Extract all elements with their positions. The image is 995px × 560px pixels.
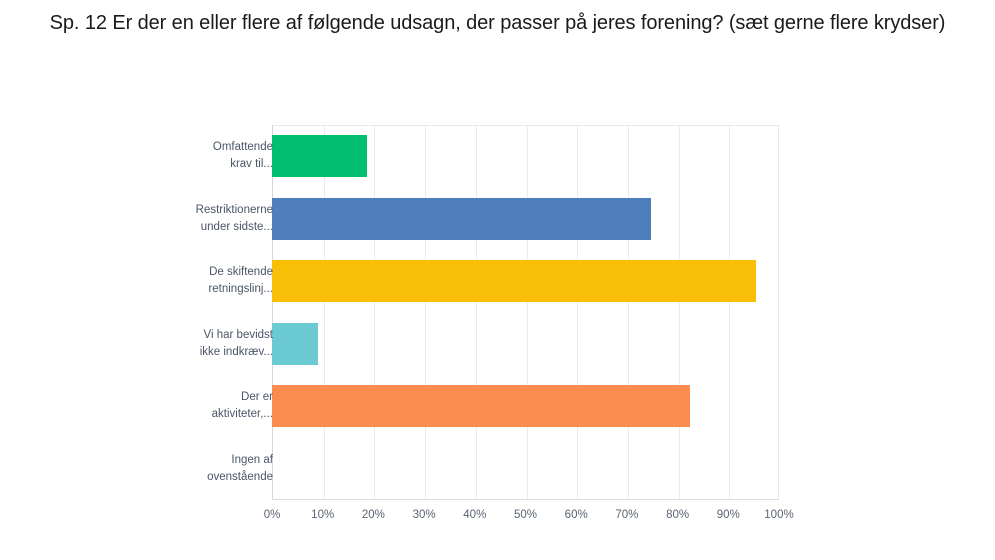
y-axis-label-line: under sidste... [201, 219, 273, 236]
y-axis-label: Der eraktiviteter,... [130, 375, 273, 438]
y-axis-label: Ingen afovenstående [130, 438, 273, 501]
x-axis-tick-label: 0% [264, 505, 281, 525]
x-axis-tick-label: 100% [764, 505, 793, 525]
y-axis-label-line: krav til... [230, 156, 273, 173]
x-axis-tick-label: 20% [362, 505, 385, 525]
bar[interactable] [272, 323, 318, 365]
y-axis-label-line: ikke indkræv... [200, 344, 273, 361]
y-axis-label-line: retningslinj... [208, 281, 273, 298]
bar[interactable] [272, 135, 367, 177]
bar-slot [272, 125, 779, 188]
y-axis-category-labels: Omfattendekrav til...Restriktionerneunde… [130, 125, 275, 500]
x-axis-tick-label: 50% [514, 505, 537, 525]
bar[interactable] [272, 198, 651, 240]
chart-page: Sp. 12 Er der en eller flere af følgende… [0, 0, 995, 560]
y-axis-label-line: Restriktionerne [196, 202, 273, 219]
y-axis-label-line: Der er [241, 389, 273, 406]
bar[interactable] [272, 260, 756, 302]
y-axis-label-line: ovenstående [207, 469, 273, 486]
y-axis-label: De skiftenderetningslinj... [130, 250, 273, 313]
bar-chart: Omfattendekrav til...Restriktionerneunde… [0, 0, 995, 560]
y-axis-label-line: Ingen af [231, 452, 273, 469]
x-axis-tick-label: 70% [615, 505, 638, 525]
y-axis-label-line: De skiftende [209, 264, 273, 281]
y-axis-label-line: Vi har bevidst [204, 327, 273, 344]
x-axis-tick-label: 40% [463, 505, 486, 525]
y-axis-label: Vi har bevidstikke indkræv... [130, 313, 273, 376]
bar-slot [272, 188, 779, 251]
x-axis-tick-label: 10% [311, 505, 334, 525]
x-axis-tick-label: 30% [413, 505, 436, 525]
bars-layer [272, 125, 779, 500]
y-axis-label-line: Omfattende [213, 139, 273, 156]
bar-slot [272, 438, 779, 501]
x-axis-tick-labels: 0%10%20%30%40%50%60%70%80%90%100% [272, 505, 779, 529]
x-axis-tick-label: 90% [717, 505, 740, 525]
bar-slot [272, 250, 779, 313]
y-axis-label: Omfattendekrav til... [130, 125, 273, 188]
x-axis-tick-label: 80% [666, 505, 689, 525]
bar-slot [272, 313, 779, 376]
bar-slot [272, 375, 779, 438]
y-axis-label-line: aktiviteter,... [212, 406, 273, 423]
bar[interactable] [272, 385, 690, 427]
x-axis-tick-label: 60% [565, 505, 588, 525]
y-axis-label: Restriktionerneunder sidste... [130, 188, 273, 251]
